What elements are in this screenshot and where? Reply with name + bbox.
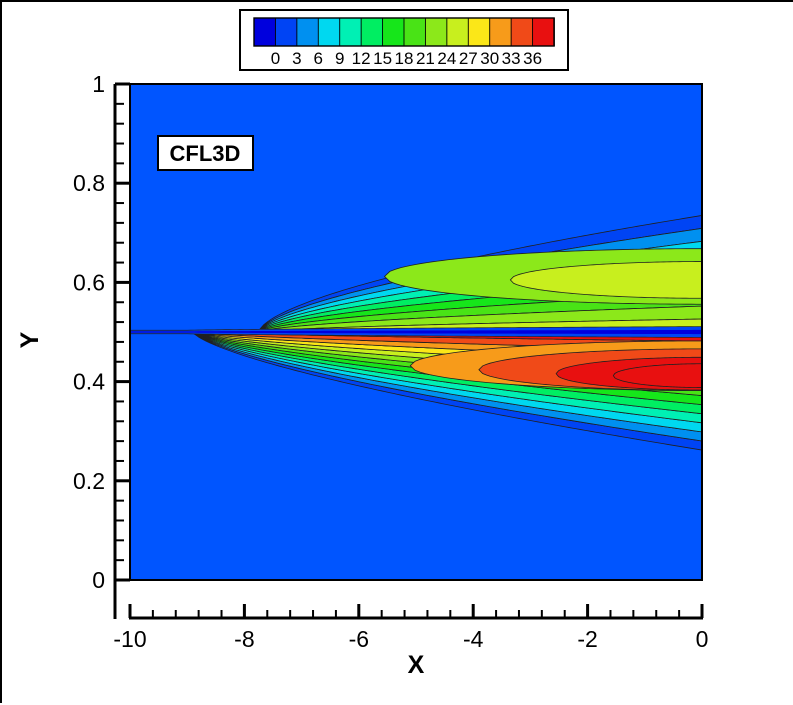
colorbar-tick-label: 36 — [523, 49, 542, 68]
colorbar-tick-label: 30 — [480, 49, 499, 68]
x-axis-title: X — [408, 651, 425, 679]
colorbar-tick-label: 21 — [416, 49, 435, 68]
x-axis-tick-label: -10 — [113, 626, 146, 652]
y-axis-tick-label: 0.2 — [73, 468, 105, 494]
colorbar-tick-label: 12 — [352, 49, 371, 68]
y-axis-tick-label: 1 — [92, 71, 105, 97]
y-axis-tick-label: 0 — [92, 567, 105, 593]
x-axis-tick-label: -2 — [577, 626, 597, 652]
y-axis-tick-label: 0.8 — [73, 170, 105, 196]
colorbar-tick-label: 15 — [373, 49, 392, 68]
colorbar-tick-label: 9 — [335, 49, 344, 68]
colorbar-tick-label: 18 — [395, 49, 414, 68]
colorbar-tick-label: 33 — [502, 49, 521, 68]
colorbar-tick-label: 27 — [459, 49, 478, 68]
annotation-label: CFL3D — [170, 141, 241, 166]
x-axis-tick-label: 0 — [696, 626, 709, 652]
annotation-cfl3d: CFL3D — [158, 136, 253, 170]
colorbar-tick-label: 24 — [437, 49, 456, 68]
y-axis-title: Y — [16, 331, 44, 348]
contour-figure: 0369121518212427303336 -10-8-6-4-20 X 00… — [2, 2, 793, 705]
colorbar-tick-label: 3 — [292, 49, 301, 68]
colorbar: 0369121518212427303336 — [240, 10, 568, 70]
y-axis-tick-label: 0.6 — [73, 269, 105, 295]
x-axis-tick-label: -8 — [234, 626, 254, 652]
colorbar-tick-label: 0 — [271, 49, 280, 68]
colorbar-bands — [254, 18, 554, 46]
x-axis-tick-label: -6 — [349, 626, 369, 652]
x-axis-tick-label: -4 — [463, 626, 484, 652]
colorbar-tick-label: 6 — [314, 49, 323, 68]
y-axis-tick-label: 0.4 — [73, 369, 105, 395]
